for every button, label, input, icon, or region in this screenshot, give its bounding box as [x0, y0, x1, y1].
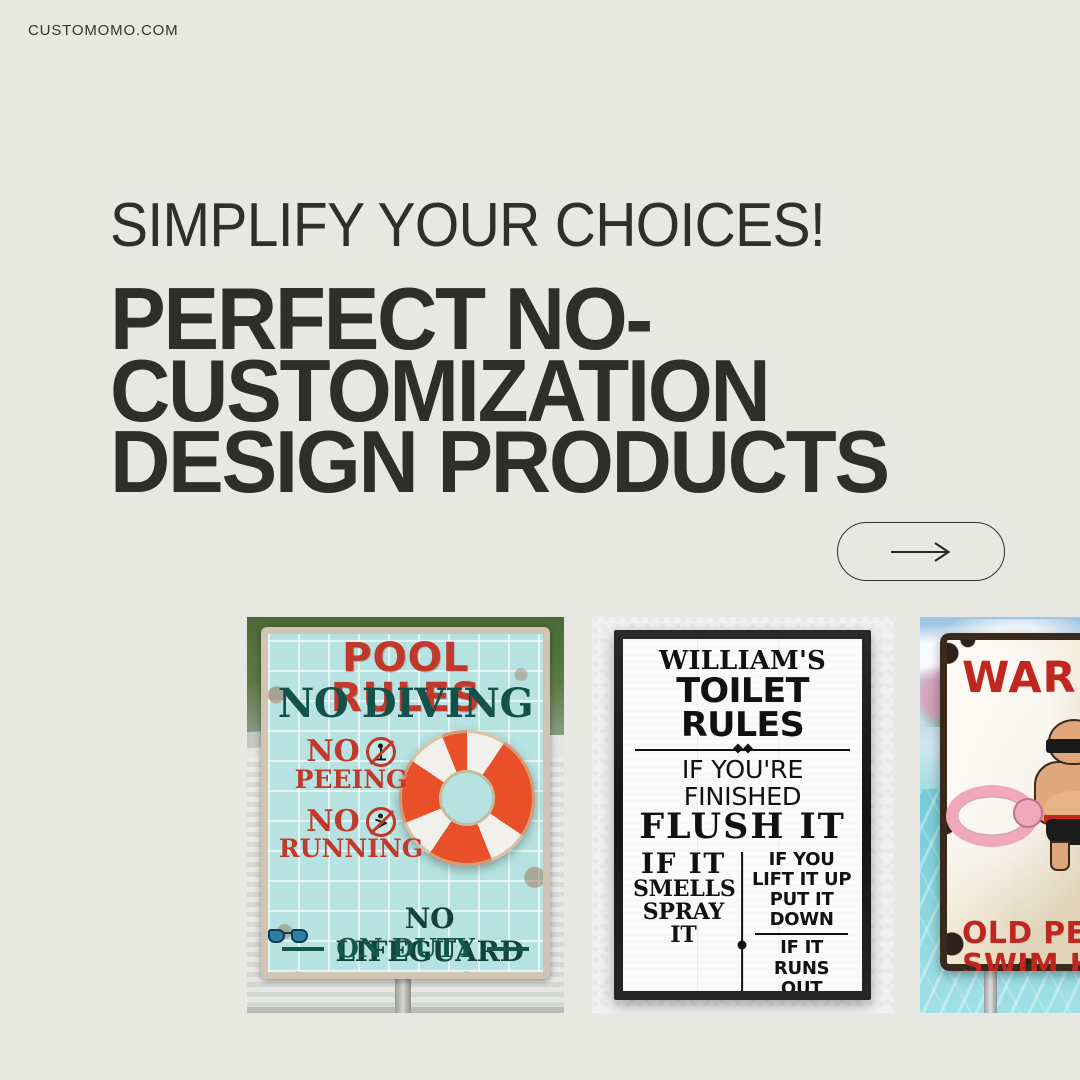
divider-dot	[738, 940, 747, 949]
arrow-right-button[interactable]	[837, 522, 1005, 581]
pool-sign-rules: NO PEEING NO RUNNING	[276, 737, 426, 863]
rule-no-peeing-prefix: NO	[306, 737, 360, 768]
rule-no-running-label: RUNNING	[276, 836, 426, 862]
toilet-rules-sign: WILLIAM'S TOILET RULES IF YOU'RE FINISHE…	[623, 639, 862, 991]
right-column-rule	[755, 933, 848, 935]
pool-sign-subtitle: NO DIVING	[268, 684, 543, 724]
right-line-a2: PUT IT DOWN	[751, 890, 852, 930]
hero-eyebrow: SIMPLIFY YOUR CHOICES!	[110, 195, 863, 257]
left-big-line: IF IT	[633, 850, 734, 878]
site-brand: CUSTOMOMO.COM	[28, 22, 178, 39]
rule-no-peeing-label: PEEING	[276, 767, 426, 793]
picture-frame: WILLIAM'S TOILET RULES IF YOU'RE FINISHE…	[614, 630, 871, 1000]
toilet-sign-title: TOILET RULES	[630, 674, 856, 742]
no-peeing-icon	[366, 737, 396, 767]
column-divider	[734, 850, 752, 991]
toilet-column-left: IF IT SMELLS SPRAY IT	[633, 850, 734, 991]
sign-post	[984, 967, 997, 1013]
arrow-right-icon	[890, 542, 952, 562]
right-line-b1: IF IT RUNS OUT	[751, 938, 852, 991]
pool-rules-sign: POOL RULES NO DIVING NO PEEING NO	[261, 627, 550, 979]
no-running-icon	[366, 807, 396, 837]
left-line-a: SMELLS	[633, 878, 734, 901]
toilet-column-right: IF YOU LIFT IT UP PUT IT DOWN IF IT RUNS…	[751, 850, 852, 991]
cartoon-old-man-illustration	[1024, 719, 1080, 869]
left-line-b: SPRAY IT	[633, 901, 734, 948]
rule-no-running-prefix: NO	[306, 807, 360, 838]
swim-risk-label: SWIM AT YOUR OWN RISK	[268, 968, 543, 979]
toilet-flush-line: FLUSH IT	[633, 809, 852, 844]
warning-sign: WARNING OLD PEOPLE SWIM HERE DEAL WITH I…	[940, 633, 1080, 971]
duty-label: ON DUTY	[336, 934, 475, 964]
right-line-a1: IF YOU LIFT IT UP	[751, 850, 852, 890]
product-card-strip: POOL RULES NO DIVING NO PEEING NO	[247, 617, 1080, 1013]
warning-title: WARNING	[962, 657, 1080, 700]
warning-line-2: SWIM HERE	[962, 951, 1080, 971]
product-card-toilet-rules[interactable]: WILLIAM'S TOILET RULES IF YOU'RE FINISHE…	[592, 617, 893, 1013]
divider-with-diamonds	[635, 745, 850, 755]
product-card-pool-rules[interactable]: POOL RULES NO DIVING NO PEEING NO	[247, 617, 564, 1013]
dash-left	[282, 947, 324, 951]
toilet-two-column-rules: IF IT SMELLS SPRAY IT IF YOU LIFT IT UP …	[633, 850, 852, 991]
hero-title-line-3: DESIGN PRODUCTS	[110, 426, 888, 498]
hero-text-block: SIMPLIFY YOUR CHOICES! PERFECT NO- CUSTO…	[110, 195, 929, 498]
toilet-finished-line: IF YOU'RE FINISHED	[631, 757, 854, 810]
product-card-old-people-warning[interactable]: WARNING OLD PEOPLE SWIM HERE DEAL WITH I…	[920, 617, 1080, 1013]
dash-right	[487, 947, 529, 951]
flamingo-float-icon	[946, 785, 1038, 847]
warning-line-1: OLD PEOPLE	[962, 919, 1080, 949]
pool-sign-duty-row: ON DUTY	[268, 934, 543, 964]
hero-title: PERFECT NO- CUSTOMIZATION DESIGN PRODUCT…	[110, 283, 888, 498]
